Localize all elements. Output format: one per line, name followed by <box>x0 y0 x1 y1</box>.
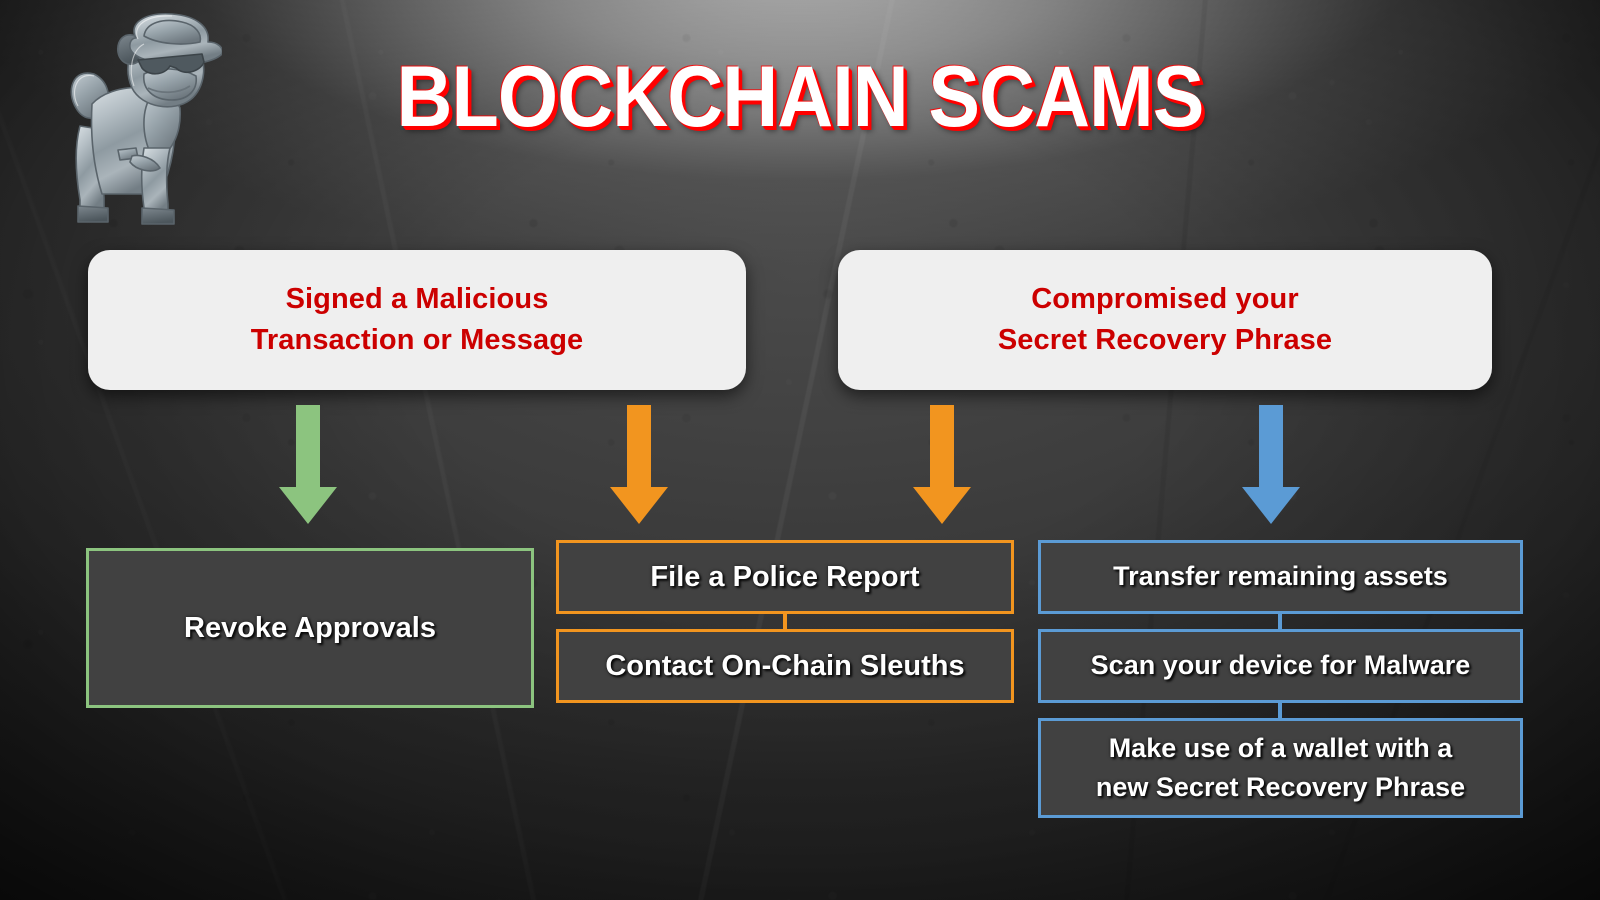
action-box-transfer-remaining-assets[interactable]: Transfer remaining assets <box>1038 540 1523 614</box>
action-box-label: Transfer remaining assets <box>1099 557 1462 596</box>
connector-orange-1 <box>783 612 787 630</box>
action-box-label: Contact On-Chain Sleuths <box>591 645 978 687</box>
arrow-down-blue <box>1240 405 1302 525</box>
action-box-label: Make use of a wallet with a new Secret R… <box>1082 729 1479 807</box>
arrow-down-orange-right <box>911 405 973 525</box>
action-box-file-police-report[interactable]: File a Police Report <box>556 540 1014 614</box>
connector-blue-2 <box>1278 701 1282 719</box>
arrow-down-orange-left <box>608 405 670 525</box>
action-box-label: Scan your device for Malware <box>1077 646 1485 685</box>
action-box-label: File a Police Report <box>636 556 933 598</box>
page-title: BLOCKCHAIN SCAMS <box>80 48 1520 147</box>
cause-card-label: Signed a Malicious Transaction or Messag… <box>251 279 584 361</box>
cause-card-malicious-signature[interactable]: Signed a Malicious Transaction or Messag… <box>88 250 746 390</box>
arrow-down-green <box>277 405 339 525</box>
action-box-contact-onchain-sleuths[interactable]: Contact On-Chain Sleuths <box>556 629 1014 703</box>
action-box-label: Revoke Approvals <box>170 607 450 649</box>
action-box-revoke-approvals[interactable]: Revoke Approvals <box>86 548 534 708</box>
cause-card-compromised-seed-phrase[interactable]: Compromised your Secret Recovery Phrase <box>838 250 1492 390</box>
connector-blue-1 <box>1278 612 1282 630</box>
cause-card-label: Compromised your Secret Recovery Phrase <box>998 279 1332 361</box>
slide-canvas: BLOCKCHAIN SCAMS Signed a Malicious Tran… <box>0 0 1600 900</box>
action-box-scan-device-for-malware[interactable]: Scan your device for Malware <box>1038 629 1523 703</box>
action-box-new-secret-recovery-phrase[interactable]: Make use of a wallet with a new Secret R… <box>1038 718 1523 818</box>
